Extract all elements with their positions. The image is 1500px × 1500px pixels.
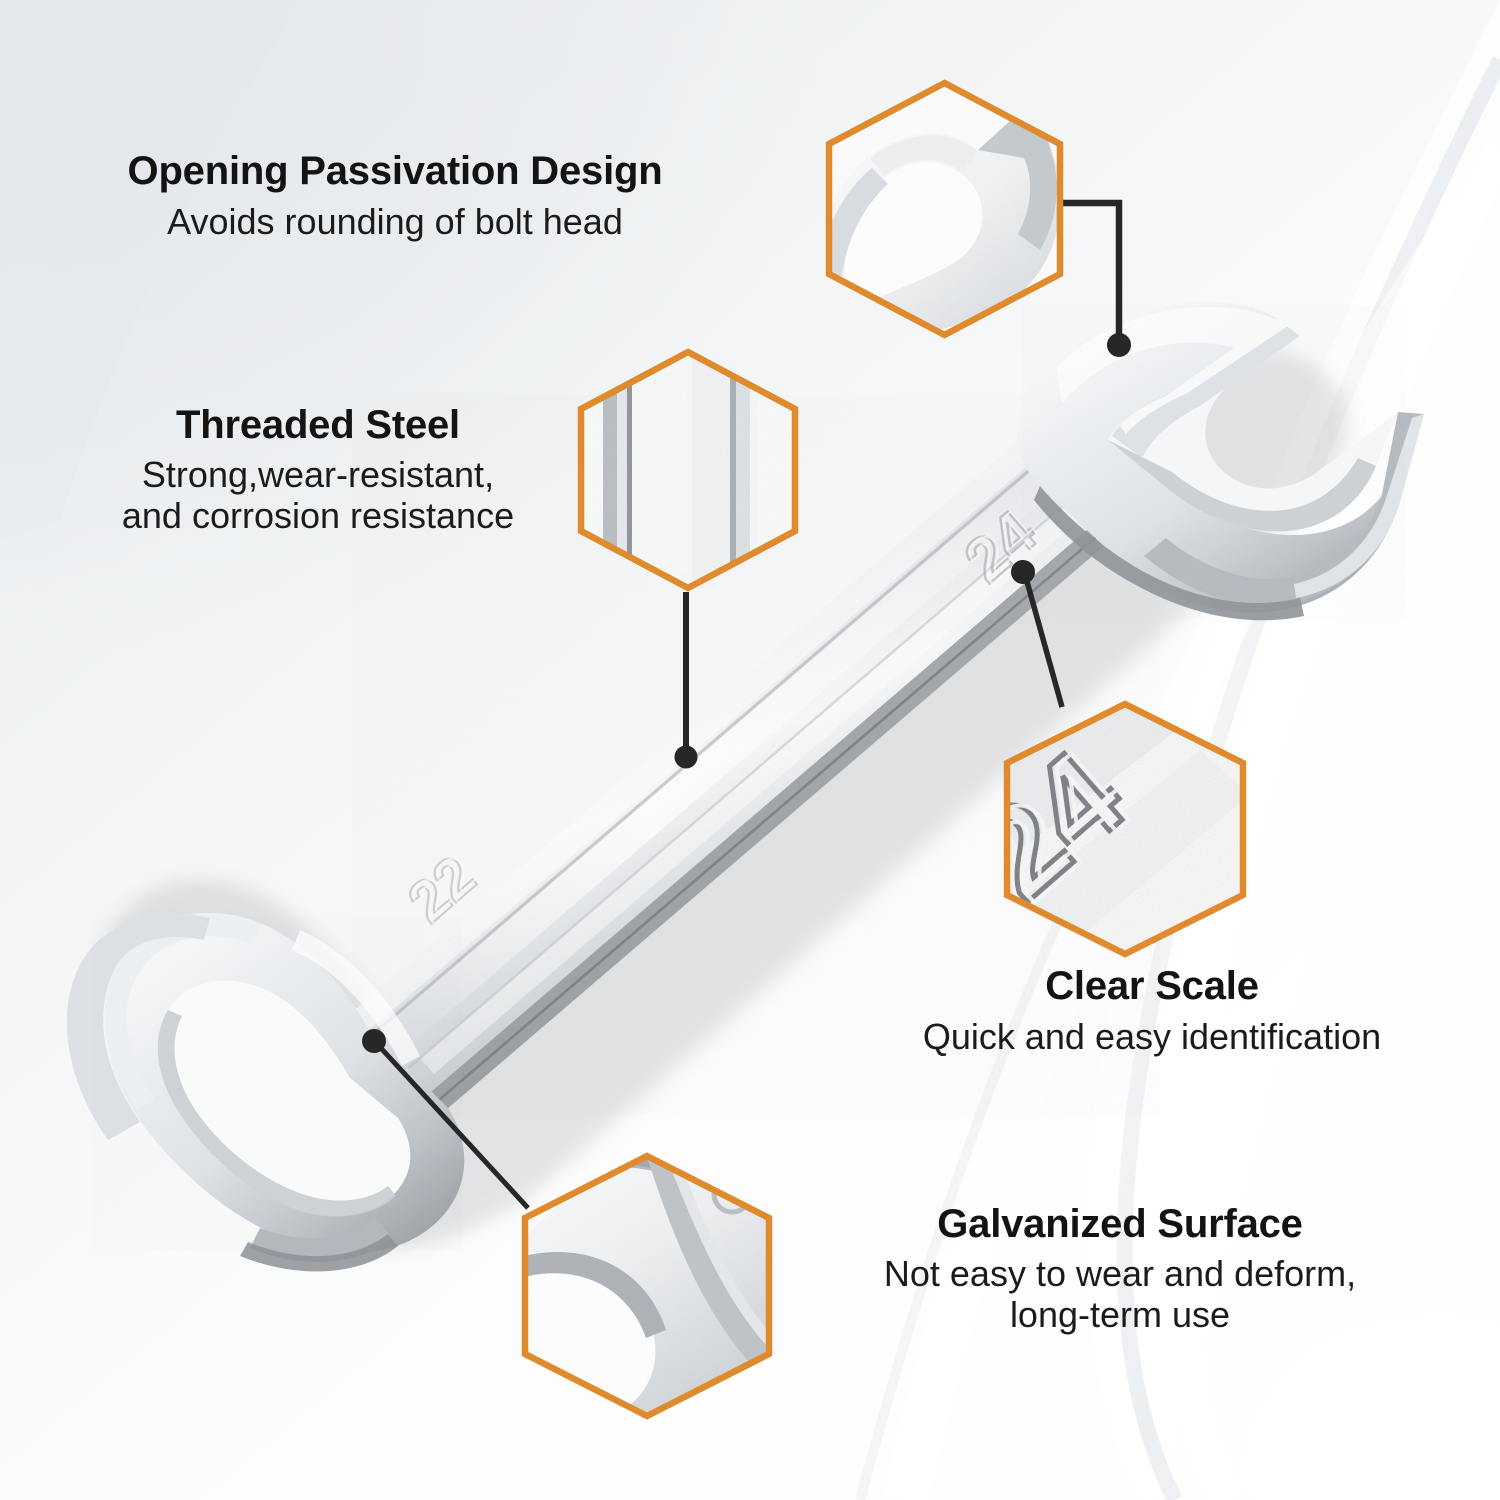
callout-hex-threaded-steel <box>575 348 801 592</box>
feature-text-opening-passivation: Opening Passivation Design Avoids roundi… <box>0 150 790 242</box>
feature-title: Clear Scale <box>852 965 1452 1007</box>
callout-hex-opening-passivation <box>822 78 1067 340</box>
infographic-canvas: 24 24 22 22 <box>0 0 1500 1500</box>
feature-subtitle-line: Avoids rounding of bolt head <box>0 201 790 242</box>
feature-subtitle-line: Strong,wear-resistant, <box>62 454 574 495</box>
callout-hex-clear-scale: 24 24 <box>1000 700 1250 958</box>
feature-text-threaded-steel: Threaded Steel Strong,wear-resistant, an… <box>62 404 574 536</box>
shaft-texture-closeup-icon <box>575 348 801 592</box>
feature-text-galvanized-surface: Galvanized Surface Not easy to wear and … <box>800 1203 1440 1335</box>
leader-line-opening-passivation <box>1060 203 1131 357</box>
feature-title: Galvanized Surface <box>800 1203 1440 1245</box>
feature-title: Opening Passivation Design <box>0 150 790 192</box>
feature-subtitle-line: Quick and easy identification <box>852 1016 1452 1057</box>
leader-line-clear-scale <box>1012 561 1063 708</box>
feature-subtitle-line: long-term use <box>800 1294 1440 1335</box>
leader-line-galvanized-surface <box>363 1030 529 1209</box>
feature-subtitle-line: and corrosion resistance <box>62 495 574 536</box>
feature-text-clear-scale: Clear Scale Quick and easy identificatio… <box>852 965 1452 1057</box>
feature-subtitle-line: Not easy to wear and deform, <box>800 1253 1440 1294</box>
feature-title: Threaded Steel <box>62 404 574 446</box>
wrench-jaw-closeup-icon <box>822 78 1067 340</box>
callout-hex-galvanized-surface <box>518 1152 776 1420</box>
galvanized-jaw-closeup-icon <box>518 1152 776 1420</box>
leader-line-threaded-steel <box>675 592 697 768</box>
size-stamp-closeup-icon: 24 24 <box>1000 700 1250 958</box>
